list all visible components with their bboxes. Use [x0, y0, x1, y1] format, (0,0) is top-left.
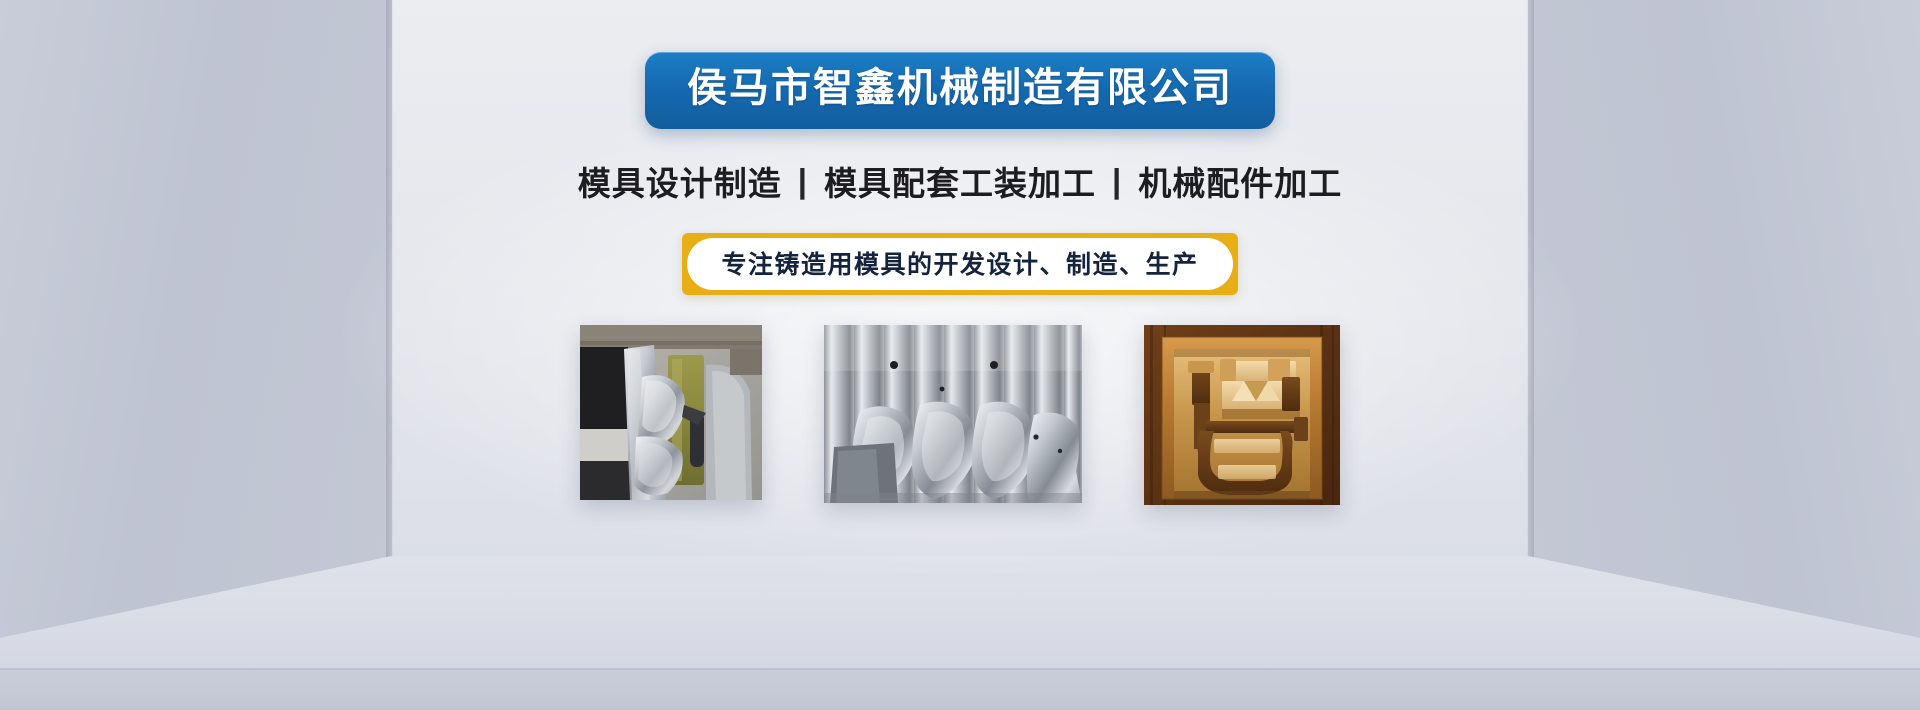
service-item-2: 模具配套工装加工 — [824, 157, 1096, 205]
product-photo-wooden-casting-pattern[interactable] — [1144, 325, 1340, 505]
company-name-plaque: 侯马市智鑫机械制造有限公司 — [645, 52, 1275, 129]
wooden-pattern-illustration — [1144, 325, 1340, 505]
product-photo-aluminum-die-cast-mold-cavity[interactable] — [580, 325, 762, 500]
product-photo-row — [580, 325, 1340, 505]
product-photo-machined-metal-mold-parts[interactable] — [824, 325, 1082, 503]
services-subtitle: 模具设计制造 | 模具配套工装加工 | 机械配件加工 — [578, 157, 1342, 205]
tagline-badge: 专注铸造用模具的开发设计、制造、生产 — [682, 233, 1237, 295]
company-name: 侯马市智鑫机械制造有限公司 — [687, 65, 1233, 112]
service-separator-2: | — [1112, 162, 1122, 200]
tagline-badge-inner: 专注铸造用模具的开发设计、制造、生产 — [687, 238, 1232, 290]
machined-parts-illustration — [824, 325, 1082, 503]
service-item-1: 模具设计制造 — [578, 157, 782, 205]
aluminum-mold-illustration — [580, 325, 762, 500]
tagline-text: 专注铸造用模具的开发设计、制造、生产 — [721, 245, 1198, 281]
banner-content: 侯马市智鑫机械制造有限公司 模具设计制造 | 模具配套工装加工 | 机械配件加工… — [0, 0, 1920, 710]
service-item-3: 机械配件加工 — [1138, 157, 1342, 205]
service-separator-1: | — [798, 162, 808, 200]
banner-stage: 侯马市智鑫机械制造有限公司 模具设计制造 | 模具配套工装加工 | 机械配件加工… — [0, 0, 1920, 710]
